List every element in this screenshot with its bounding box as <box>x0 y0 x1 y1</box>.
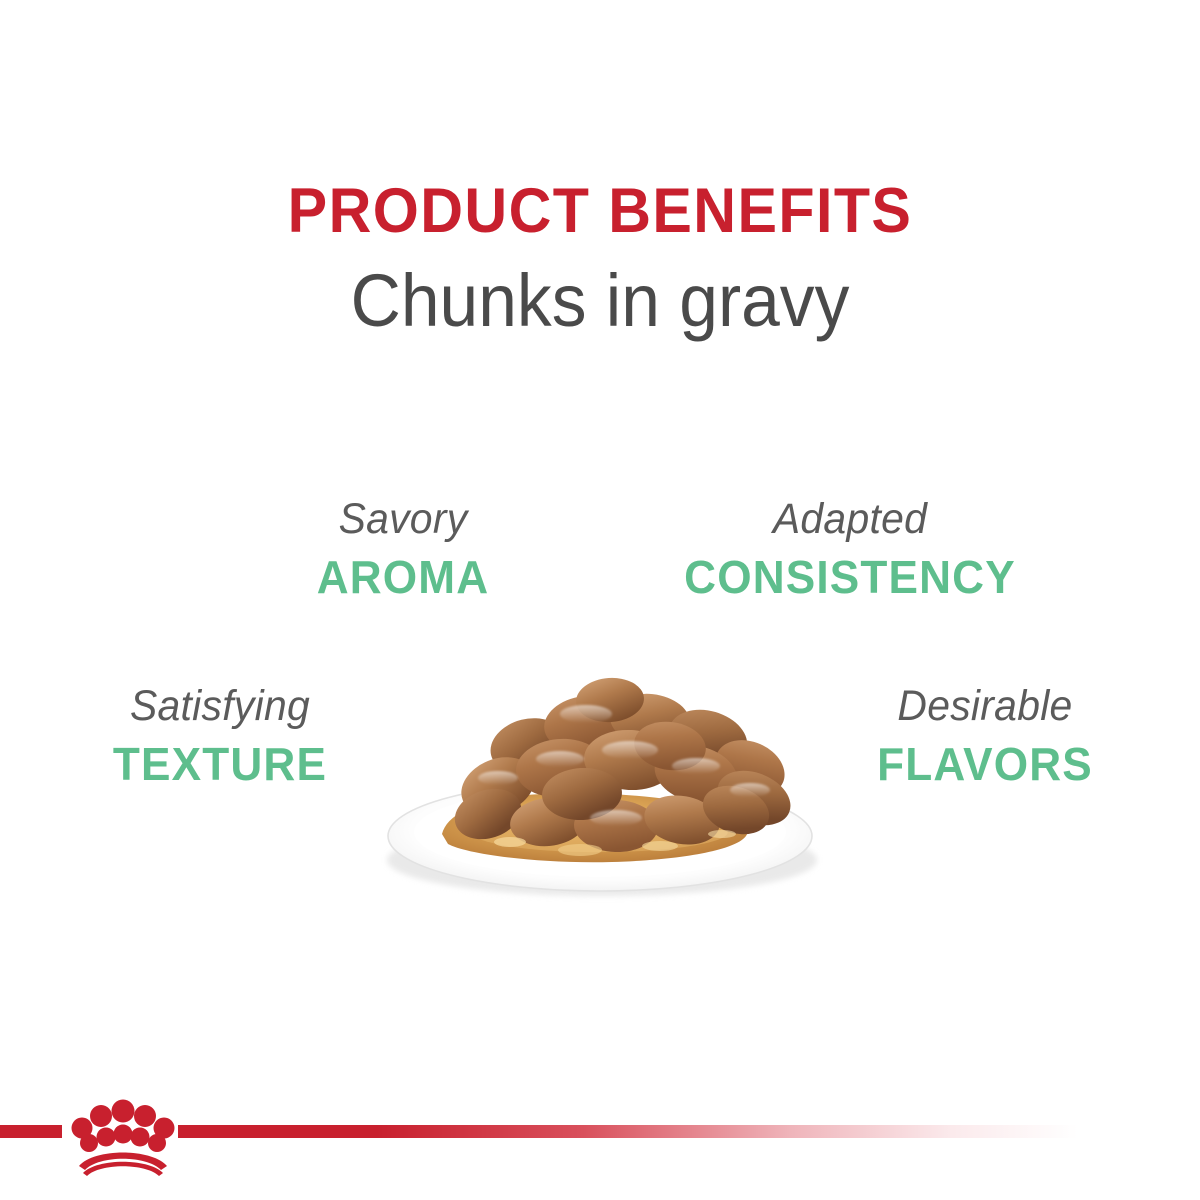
benefit-aroma: Savory AROMA <box>238 498 568 600</box>
benefit-consistency-noun: CONSISTENCY <box>663 554 1037 600</box>
product-food-image <box>330 628 870 908</box>
page-title: PRODUCT BENEFITS <box>36 178 1164 244</box>
crown-icon <box>68 1090 178 1178</box>
royal-canin-crown-logo <box>68 1090 178 1178</box>
page-subtitle: Chunks in gravy <box>36 254 1164 349</box>
benefit-consistency: Adapted CONSISTENCY <box>655 498 1045 600</box>
plate-of-chunks-illustration <box>330 628 870 908</box>
footer-bar-right <box>178 1125 1078 1138</box>
footer-bar-left <box>0 1125 62 1138</box>
benefit-aroma-noun: AROMA <box>245 554 562 600</box>
footer <box>0 1090 1200 1200</box>
benefit-consistency-adjective: Adapted <box>665 498 1036 541</box>
benefit-flavors-adjective: Desirable <box>828 685 1142 728</box>
benefit-aroma-adjective: Savory <box>246 498 560 541</box>
heading-block: PRODUCT BENEFITS Chunks in gravy <box>0 178 1200 349</box>
product-benefits-page: PRODUCT BENEFITS Chunks in gravy Savory … <box>0 0 1200 1200</box>
benefit-flavors-noun: FLAVORS <box>827 741 1144 787</box>
